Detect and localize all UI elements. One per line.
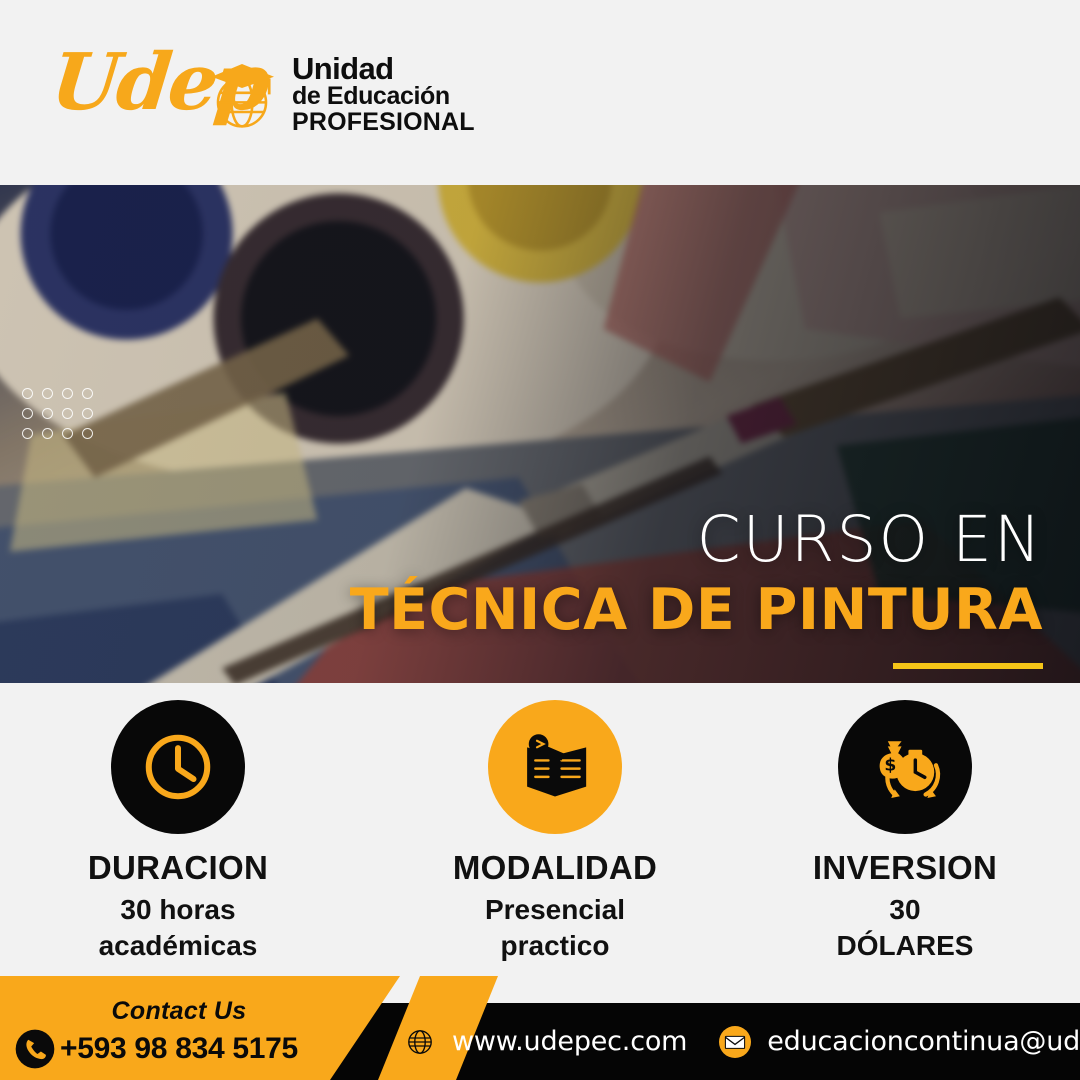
globe-icon [400, 1022, 440, 1062]
info-section: DURACION 30 horas académicas [0, 683, 1080, 976]
logo-line-3: PROFESIONAL [292, 110, 475, 136]
hero-title: TÉCNICA DE PINTURA [263, 579, 1043, 643]
inversion-detail-line-1: 30 [760, 892, 1050, 928]
logo-line-1: Unidad [292, 53, 475, 85]
phone-icon [14, 1028, 56, 1070]
info-column-duracion: DURACION 30 horas académicas [38, 700, 318, 965]
phone-number: +593 98 834 5175 [60, 1032, 298, 1066]
hero-eyebrow: CURSO EN [263, 508, 1043, 571]
logo-mark: Udep [52, 40, 284, 148]
graduation-cap-globe-icon [202, 56, 282, 136]
money-bag-clock-icon: $ [862, 724, 948, 810]
website-link[interactable]: www.udepec.com [400, 1022, 687, 1062]
modalidad-detail: Presencial practico [400, 892, 710, 965]
logo-text-block: Unidad de Educación PROFESIONAL [292, 53, 475, 136]
info-column-modalidad: MODALIDAD Presencial practico [400, 700, 710, 965]
udep-logo[interactable]: Udep Unidad de Educación PROFESIONAL [52, 40, 475, 148]
flyer-canvas: Udep Unidad de Educación PROFESIONAL [0, 0, 1080, 1080]
svg-text:$: $ [884, 755, 896, 775]
logo-line-2: de Educación [292, 84, 475, 110]
hero-underline-rule [893, 663, 1043, 669]
duracion-icon-badge [111, 700, 245, 834]
footer-bar: Contact Us +593 98 834 5175 [0, 976, 1080, 1080]
website-text: www.udepec.com [452, 1026, 687, 1057]
inversion-title: INVERSION [760, 851, 1050, 886]
modalidad-icon-badge [488, 700, 622, 834]
inversion-icon-badge: $ [838, 700, 972, 834]
modalidad-detail-line-1: Presencial [400, 892, 710, 928]
duracion-detail-line-2: académicas [38, 928, 318, 964]
email-text: educacioncontinua@udepec.com [767, 1026, 1080, 1057]
book-and-brush-icon [514, 726, 596, 808]
inversion-detail-line-2: DÓLARES [760, 928, 1050, 964]
duracion-title: DURACION [38, 851, 318, 886]
duracion-detail: 30 horas académicas [38, 892, 318, 965]
clock-icon [135, 724, 221, 810]
header-bar: Udep Unidad de Educación PROFESIONAL [0, 0, 1080, 185]
modalidad-detail-line-2: practico [400, 928, 710, 964]
envelope-icon [715, 1022, 755, 1062]
modalidad-title: MODALIDAD [400, 851, 710, 886]
phone-row[interactable]: +593 98 834 5175 [14, 1028, 344, 1070]
contact-block: Contact Us +593 98 834 5175 [14, 997, 344, 1070]
dot-grid-icon [22, 388, 102, 448]
hero-banner: CURSO EN TÉCNICA DE PINTURA Tu educación… [0, 185, 1080, 683]
duracion-detail-line-1: 30 horas [38, 892, 318, 928]
info-column-inversion: $ INVERSION 30 DÓLARES [760, 700, 1050, 965]
hero-text-block: CURSO EN TÉCNICA DE PINTURA Tu educación… [263, 508, 1043, 683]
contact-us-label: Contact Us [14, 997, 344, 1026]
email-link[interactable]: educacioncontinua@udepec.com [715, 1022, 1080, 1062]
inversion-detail: 30 DÓLARES [760, 892, 1050, 965]
footer-contact-links: www.udepec.com educacioncontinua@udepec.… [378, 1003, 1080, 1080]
